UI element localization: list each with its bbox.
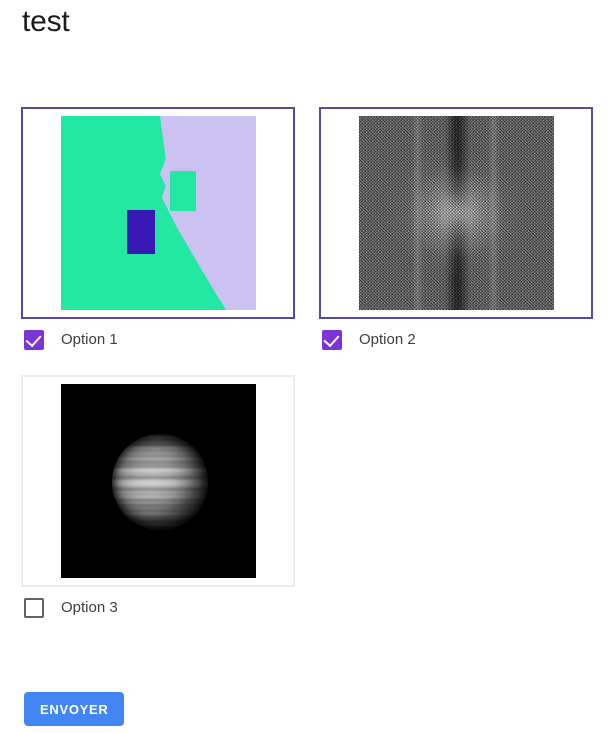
fft-noise-image bbox=[359, 116, 554, 310]
submit-button[interactable]: ENVOYER bbox=[24, 692, 124, 726]
option-3-thumbnail-card[interactable] bbox=[21, 375, 295, 587]
option-2-checkbox-row[interactable]: Option 2 bbox=[319, 328, 593, 352]
option-cell-2: Option 2 bbox=[319, 107, 593, 352]
option-1-label: Option 1 bbox=[61, 330, 118, 350]
option-1-checkbox[interactable] bbox=[24, 330, 44, 350]
check-icon bbox=[323, 331, 339, 347]
options-row-2: Option 3 bbox=[21, 375, 597, 620]
planet-limb-darkening bbox=[108, 430, 212, 534]
option-2-checkbox[interactable] bbox=[322, 330, 342, 350]
page-title: test bbox=[22, 2, 70, 42]
option-cell-1: Option 1 bbox=[21, 107, 295, 352]
segmentation-map-image bbox=[61, 116, 256, 310]
planet-jupiter-image bbox=[61, 384, 256, 578]
option-1-thumbnail-card[interactable] bbox=[21, 107, 295, 319]
option-3-checkbox[interactable] bbox=[24, 598, 44, 618]
region-shape bbox=[61, 116, 256, 310]
planet-disc bbox=[112, 434, 208, 530]
option-cell-empty bbox=[319, 375, 593, 620]
option-2-label: Option 2 bbox=[359, 330, 416, 350]
noise-texture-layer-secondary bbox=[359, 116, 554, 310]
marker-dark-diamond-icon bbox=[127, 210, 155, 254]
marker-light-diamond-icon bbox=[170, 171, 196, 211]
option-2-thumbnail-card[interactable] bbox=[319, 107, 593, 319]
check-icon bbox=[25, 331, 41, 347]
option-1-checkbox-row[interactable]: Option 1 bbox=[21, 328, 295, 352]
options-row-1: Option 1 Option 2 bbox=[21, 107, 597, 352]
options-grid: Option 1 Option 2 bbox=[21, 107, 597, 643]
option-3-label: Option 3 bbox=[61, 598, 118, 618]
option-3-checkbox-row[interactable]: Option 3 bbox=[21, 596, 295, 620]
option-cell-3: Option 3 bbox=[21, 375, 295, 620]
